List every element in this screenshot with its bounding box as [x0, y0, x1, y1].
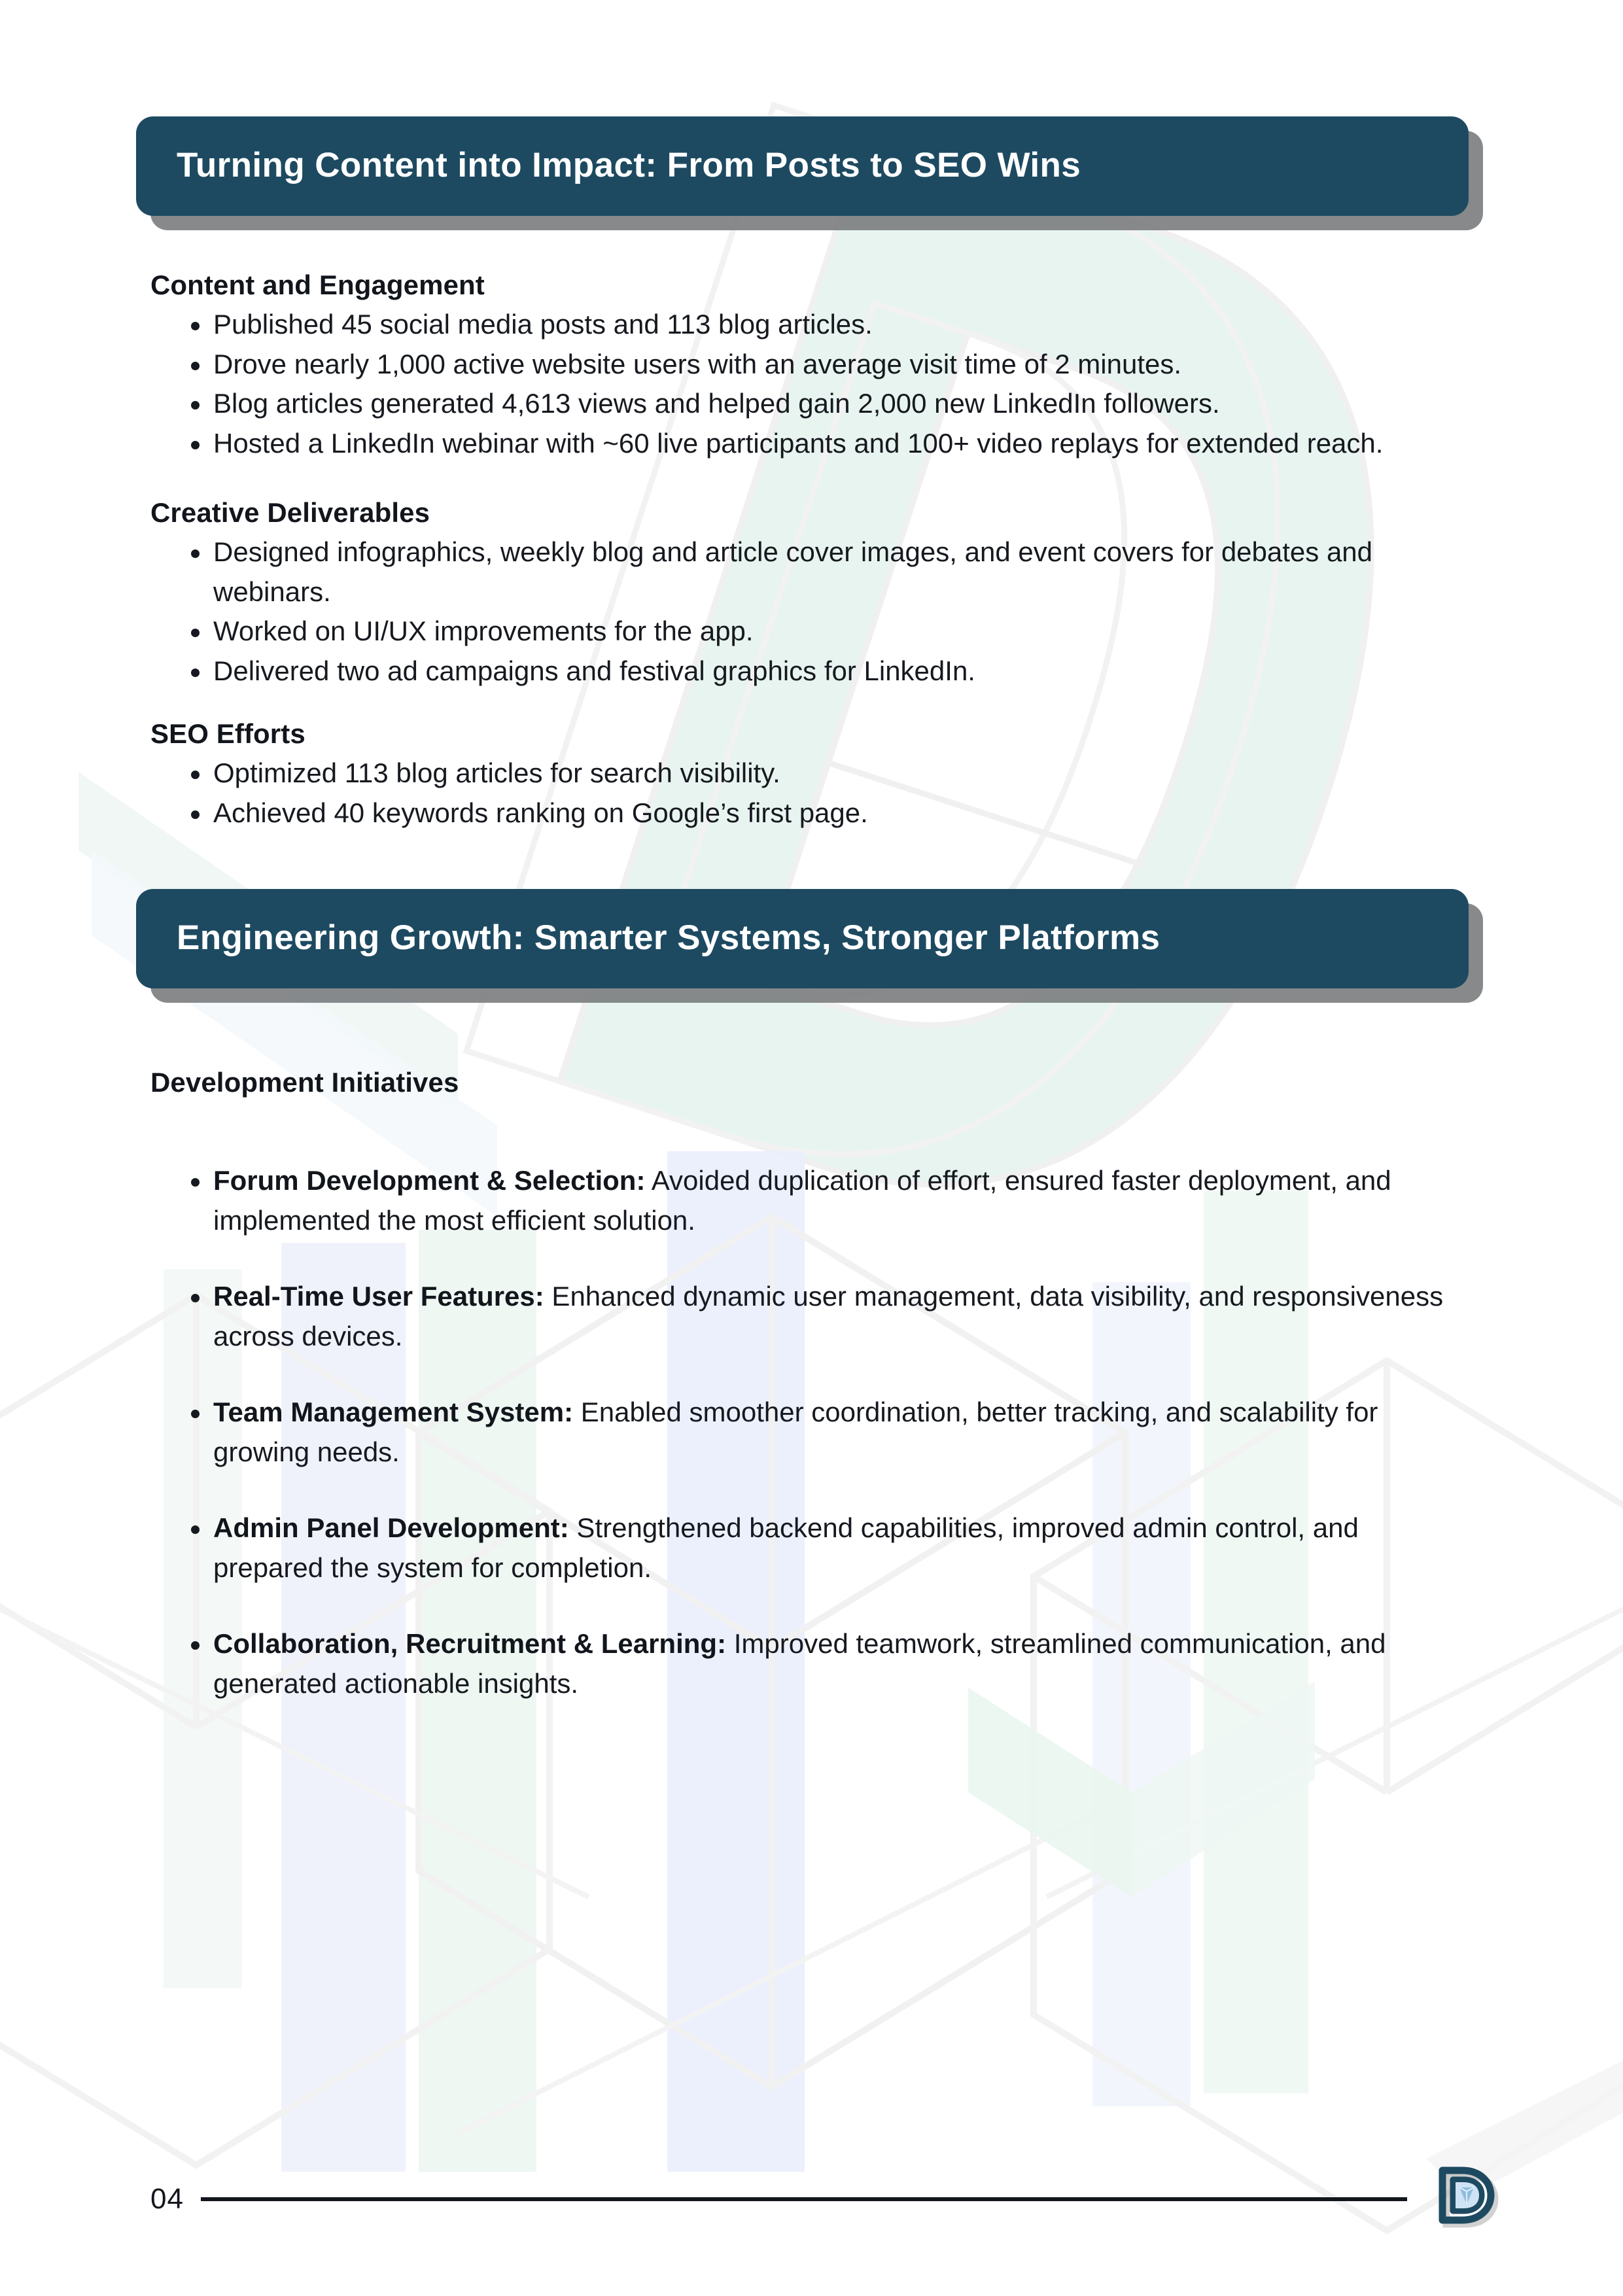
content-banner-title: Turning Content into Impact: From Posts …: [177, 147, 1428, 184]
section-seo-efforts: SEO Efforts Optimized 113 blog articles …: [150, 718, 1473, 833]
page-content: Turning Content into Impact: From Posts …: [0, 0, 1623, 1703]
page-number: 04: [150, 2183, 184, 2216]
heading-creative-deliverables: Creative Deliverables: [150, 497, 1473, 529]
list-content-and-engagement: Published 45 social media posts and 113 …: [150, 305, 1473, 463]
engineering-banner-wrap: Engineering Growth: Smarter Systems, Str…: [136, 889, 1469, 988]
heading-content-and-engagement: Content and Engagement: [150, 270, 1473, 301]
section-creative-deliverables: Creative Deliverables Designed infograph…: [150, 497, 1473, 691]
list-item: Team Management System: Enabled smoother…: [150, 1393, 1473, 1472]
list-item-label: Collaboration, Recruitment & Learning:: [213, 1628, 726, 1659]
list-item-label: Forum Development & Selection:: [213, 1165, 645, 1196]
list-seo-efforts: Optimized 113 blog articles for search v…: [150, 754, 1473, 833]
list-item: Achieved 40 keywords ranking on Google’s…: [150, 793, 1473, 833]
content-banner: Turning Content into Impact: From Posts …: [136, 116, 1469, 216]
list-item: Forum Development & Selection: Avoided d…: [150, 1161, 1473, 1240]
heading-development-initiatives: Development Initiatives: [150, 1067, 1473, 1098]
list-creative-deliverables: Designed infographics, weekly blog and a…: [150, 532, 1473, 691]
list-development-initiatives: Forum Development & Selection: Avoided d…: [150, 1161, 1473, 1703]
page-footer: 04: [150, 2163, 1512, 2236]
list-item-label: Team Management System:: [213, 1397, 573, 1427]
content-banner-wrap: Turning Content into Impact: From Posts …: [136, 116, 1469, 216]
list-item: Drove nearly 1,000 active website users …: [150, 345, 1473, 384]
list-item: Published 45 social media posts and 113 …: [150, 305, 1473, 344]
list-item-label: Real-Time User Features:: [213, 1281, 544, 1312]
list-item: Delivered two ad campaigns and festival …: [150, 652, 1473, 691]
engineering-banner: Engineering Growth: Smarter Systems, Str…: [136, 889, 1469, 988]
list-item: Hosted a LinkedIn webinar with ~60 live …: [150, 424, 1473, 463]
footer-divider: [201, 2197, 1407, 2201]
list-item-label: Admin Panel Development:: [213, 1512, 569, 1543]
heading-seo-efforts: SEO Efforts: [150, 718, 1473, 750]
document-page: Turning Content into Impact: From Posts …: [0, 0, 1623, 2296]
engineering-banner-title: Engineering Growth: Smarter Systems, Str…: [177, 919, 1428, 957]
list-item: Designed infographics, weekly blog and a…: [150, 532, 1473, 612]
list-item: Optimized 113 blog articles for search v…: [150, 754, 1473, 793]
list-item: Admin Panel Development: Strengthened ba…: [150, 1508, 1473, 1588]
list-item: Blog articles generated 4,613 views and …: [150, 384, 1473, 423]
section-content-and-engagement: Content and Engagement Published 45 soci…: [150, 270, 1473, 463]
section-development-initiatives: Development Initiatives Forum Developmen…: [150, 1067, 1473, 1703]
list-item: Worked on UI/UX improvements for the app…: [150, 612, 1473, 651]
list-item: Collaboration, Recruitment & Learning: I…: [150, 1624, 1473, 1703]
d-monogram-diamond-logo-icon: [1433, 2157, 1512, 2236]
list-item: Real-Time User Features: Enhanced dynami…: [150, 1277, 1473, 1356]
